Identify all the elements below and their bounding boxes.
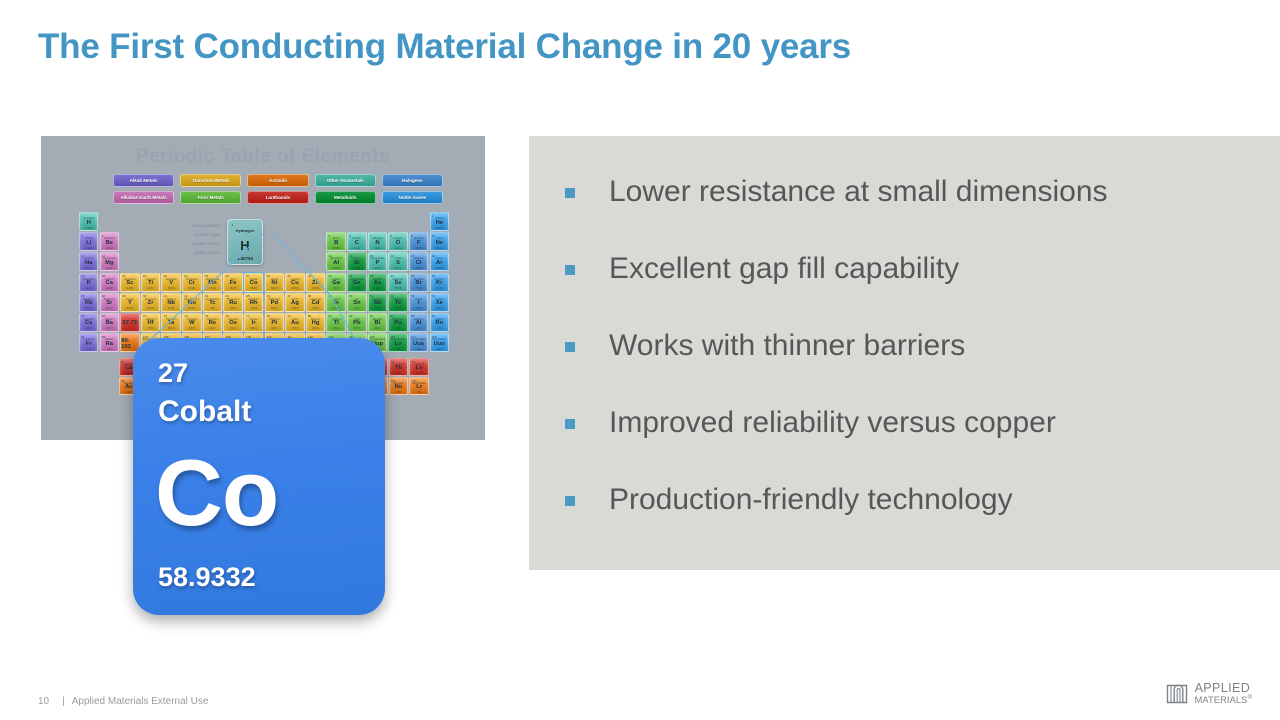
element-name: Ruthenium <box>224 298 241 301</box>
element-name: Rhenium <box>204 318 221 321</box>
element-weight: 121.8 <box>369 307 386 310</box>
bullet-text: Excellent gap fill capability <box>609 249 959 289</box>
grid-spacer <box>223 232 242 249</box>
element-symbol: Pd <box>271 300 278 306</box>
element-symbol: Uus <box>413 341 424 347</box>
element-name: Caesium <box>80 318 97 321</box>
bullet-square-icon <box>565 342 575 352</box>
element-weight: 83.80 <box>431 287 448 290</box>
element-cell-At: 85AstatineAt210 <box>409 313 428 332</box>
element-name: Ytterbium <box>390 363 408 366</box>
element-cell-Ba: 56BariumBa137.3 <box>100 313 119 332</box>
element-cell-Cu: 29CopperCu63.55 <box>285 273 304 292</box>
element-weight: 186.2 <box>204 327 221 330</box>
element-name: Krypton <box>431 278 448 281</box>
element-name: Carbon <box>348 237 365 240</box>
grid-spacer <box>244 232 263 249</box>
cobalt-atomic-number: 27 <box>158 358 188 389</box>
element-name: Osmium <box>224 318 241 321</box>
element-weight: 101.1 <box>224 307 241 310</box>
element-symbol: Ta <box>168 320 174 326</box>
element-weight: 72.63 <box>348 287 365 290</box>
element-symbol: I <box>418 300 420 306</box>
element-symbol: Lv <box>395 341 402 347</box>
element-weight: 52.00 <box>183 287 200 290</box>
element-symbol: Uuo <box>434 341 445 347</box>
element-weight: 9.012 <box>101 247 118 250</box>
element-symbol: Cs <box>85 320 92 326</box>
benefits-panel: Lower resistance at small dimensionsExce… <box>529 136 1280 570</box>
element-weight: 44.96 <box>121 287 138 290</box>
element-cell-Ga: 31GalliumGa69.72 <box>326 273 345 292</box>
element-cell-Pt: 78PlatinumPt195.1 <box>265 313 284 332</box>
element-name: Tantalum <box>162 318 179 321</box>
element-name: Aluminium <box>327 257 344 260</box>
element-cell-Hg: 80MercuryHg200.6 <box>306 313 325 332</box>
element-name: Barium <box>101 318 118 321</box>
element-cell-As: 33ArsenicAs74.92 <box>368 273 387 292</box>
element-cell-Zr: 40ZirconiumZr91.22 <box>141 293 160 312</box>
element-symbol: K <box>87 280 91 286</box>
element-cell-Tc: 43TechnetiumTc98 <box>203 293 222 312</box>
element-symbol: Po <box>394 320 401 326</box>
element-cell-Xe: 54XenonXe131.3 <box>430 293 449 312</box>
element-weight: 74.92 <box>369 287 386 290</box>
element-symbol: Rh <box>250 300 258 306</box>
footer-note: Applied Materials External Use <box>72 696 209 707</box>
element-cell-W: 74TungstenW183.8 <box>182 313 201 332</box>
bullet-text: Lower resistance at small dimensions <box>609 172 1108 212</box>
element-name: Iron <box>224 278 241 281</box>
element-symbol: Cl <box>416 260 422 266</box>
element-weight: 92.91 <box>162 307 179 310</box>
element-weight: 222 <box>431 327 448 330</box>
periodic-table-legend: Alkali MetalsTransition MetalsActinidsOt… <box>113 174 443 204</box>
element-cell-O: 8OxygenO16.00 <box>388 232 407 251</box>
element-name: Ununoctium <box>431 338 448 341</box>
element-name: Hydrogen <box>80 217 97 220</box>
element-weight: 106.4 <box>266 307 283 310</box>
brand-registered-mark: ® <box>1247 695 1252 701</box>
element-weight: 207.2 <box>348 327 365 330</box>
bullet-square-icon <box>565 188 575 198</box>
element-weight: 55.85 <box>224 287 241 290</box>
element-cell-Y: 39YttriumY88.91 <box>120 293 139 312</box>
grid-spacer <box>223 212 242 229</box>
element-name: Cobalt <box>245 278 262 281</box>
grid-spacer <box>306 252 325 269</box>
legend-pill: Other Nonmetals <box>315 174 376 187</box>
grid-spacer <box>100 212 119 229</box>
element-cell-Ra: 88RadiumRa226 <box>100 333 119 352</box>
element-weight: 195.1 <box>266 327 283 330</box>
element-cell-Cl: 17ChlorineCl35.45 <box>409 252 428 271</box>
element-name: Lutetium <box>410 363 428 366</box>
element-cell-Co: 27CobaltCo58.93 <box>244 273 263 292</box>
element-cell-Ni: 28NickelNi58.69 <box>265 273 284 292</box>
element-cell-Ti: 22TitaniumTi47.87 <box>141 273 160 292</box>
element-cell-Na: 11SodiumNa22.99 <box>79 252 98 271</box>
bullet-text: Production-friendly technology <box>609 480 1013 520</box>
element-cell-In: 49IndiumIn114.8 <box>326 293 345 312</box>
element-cell-Au: 79GoldAu197.0 <box>285 313 304 332</box>
element-weight: 178.5 <box>142 327 159 330</box>
element-weight: 107.9 <box>286 307 303 310</box>
element-symbol: Cu <box>291 280 299 286</box>
element-symbol: P <box>375 260 379 266</box>
element-name: Germanium <box>348 278 365 281</box>
element-name: Copper <box>286 278 303 281</box>
element-symbol: V <box>169 280 173 286</box>
element-name: Magnesium <box>101 257 118 260</box>
element-name: Tin <box>348 298 365 301</box>
element-cell-K: 19PotassiumK39.10 <box>79 273 98 292</box>
element-name: Boron <box>327 237 344 240</box>
element-name: Astatine <box>410 318 427 321</box>
grid-spacer <box>120 212 139 229</box>
element-name: Ununseptium <box>410 338 427 341</box>
element-weight: 19.00 <box>410 247 427 250</box>
element-weight: 126.9 <box>410 307 427 310</box>
element-name: Tungsten <box>183 318 200 321</box>
element-symbol: O <box>396 240 401 246</box>
cobalt-symbol: Co <box>155 438 278 548</box>
grid-spacer <box>120 232 139 249</box>
element-name: Zirconium <box>142 298 159 301</box>
element-cell-Ag: 47SilverAg107.9 <box>285 293 304 312</box>
element-name: Phosphorus <box>369 257 386 260</box>
element-weight: 30.97 <box>369 267 386 270</box>
element-weight: 98 <box>204 307 221 310</box>
element-symbol: Cd <box>312 300 320 306</box>
grid-spacer <box>161 232 180 249</box>
cobalt-atomic-weight: 58.9332 <box>158 562 256 593</box>
element-cell-Kr: 36KryptonKr83.80 <box>430 273 449 292</box>
element-weight: 226 <box>101 348 118 351</box>
element-name: Chlorine <box>410 257 427 260</box>
element-name: Lawrencium <box>410 382 428 385</box>
bullet-square-icon <box>565 265 575 275</box>
element-name: Beryllium <box>101 237 118 240</box>
grid-spacer <box>368 212 387 229</box>
element-symbol: Co <box>250 280 258 286</box>
element-name: Silicon <box>348 257 365 260</box>
element-weight: 4.003 <box>431 227 448 230</box>
element-weight: 50.94 <box>162 287 179 290</box>
cobalt-callout-tile: 27 Cobalt Co 58.9332 <box>133 338 385 615</box>
element-symbol: Mo <box>188 300 196 306</box>
element-symbol: Ni <box>271 280 277 286</box>
element-name: Titanium <box>142 278 159 281</box>
element-symbol: As <box>374 280 381 286</box>
element-cell-Cr: 24ChromiumCr52.00 <box>182 273 201 292</box>
element-name: Niobium <box>162 298 179 301</box>
grid-spacer <box>120 252 139 269</box>
element-cell-Cs: 55CaesiumCs132.9 <box>79 313 98 332</box>
legend-pill: Transition Metals <box>180 174 241 187</box>
benefits-bullet-list: Lower resistance at small dimensionsExce… <box>565 172 1270 557</box>
element-name: Livermorium <box>389 338 406 341</box>
element-name: Nickel <box>266 278 283 281</box>
element-cell-Al: 13AluminiumAl26.98 <box>326 252 345 271</box>
legend-pill: Alkali Metals <box>113 174 174 187</box>
element-symbol: He <box>436 220 443 226</box>
element-weight: 294 <box>431 348 448 351</box>
element-cell-H: 1HydrogenH1.008 <box>79 212 98 231</box>
element-name: Rubidium <box>80 298 97 301</box>
element-symbol: Ru <box>229 300 237 306</box>
element-weight: 39.95 <box>431 267 448 270</box>
element-name: Yttrium <box>121 298 138 301</box>
element-weight: 32.07 <box>389 267 406 270</box>
element-name: Fluorine <box>410 237 427 240</box>
element-weight: 175.0 <box>410 372 428 375</box>
element-weight: 118.7 <box>348 307 365 310</box>
bullet-item-5: Production-friendly technology <box>565 480 1270 557</box>
element-symbol: Sr <box>106 300 112 306</box>
periodic-table-main-grid: 1HydrogenH1.0082HeliumHe4.0033LithiumLi6… <box>79 212 449 352</box>
bullet-item-3: Works with thinner barriers <box>565 326 1270 403</box>
element-weight: 132.9 <box>80 327 97 330</box>
grid-spacer <box>203 232 222 249</box>
element-cell-Ge: 32GermaniumGe72.63 <box>347 273 366 292</box>
element-weight: 6.941 <box>80 247 97 250</box>
element-symbol: Xe <box>436 300 443 306</box>
page-title: The First Conducting Material Change in … <box>38 27 851 67</box>
element-weight: 1.008 <box>80 227 97 230</box>
element-symbol: Ag <box>291 300 299 306</box>
grid-spacer <box>161 212 180 229</box>
element-name: Hafnium <box>142 318 159 321</box>
element-symbol: Ir <box>252 320 256 326</box>
element-weight: 209.0 <box>369 327 386 330</box>
element-cell-P: 15PhosphorusP30.97 <box>368 252 387 271</box>
brand-wordmark: APPLIED MATERIALS® <box>1195 683 1252 705</box>
element-symbol: Ge <box>353 280 361 286</box>
element-symbol: Ra <box>106 341 113 347</box>
bullet-text: Improved reliability versus copper <box>609 403 1056 443</box>
element-weight: 204.4 <box>327 327 344 330</box>
element-weight: 294 <box>410 348 427 351</box>
element-name: Molybdenum <box>183 298 200 301</box>
element-symbol: Nb <box>167 300 175 306</box>
element-symbol: Ti <box>148 280 153 286</box>
element-cell-Fe: 26IronFe55.85 <box>223 273 242 292</box>
element-symbol: Ga <box>332 280 340 286</box>
element-cell-Ru: 44RutheniumRu101.1 <box>223 293 242 312</box>
element-name: Scandium <box>121 278 138 281</box>
grid-spacer <box>161 252 180 269</box>
bullet-square-icon <box>565 419 575 429</box>
element-symbol: Al <box>333 260 339 266</box>
element-cell-Nb: 41NiobiumNb92.91 <box>161 293 180 312</box>
grid-spacer <box>244 212 263 229</box>
element-weight: 87.62 <box>101 307 118 310</box>
element-cell-Pb: 82LeadPb207.2 <box>347 313 366 332</box>
element-weight: 10.81 <box>327 247 344 250</box>
element-weight: 192.2 <box>245 327 262 330</box>
element-name: Chromium <box>183 278 200 281</box>
element-weight: 262 <box>410 391 428 394</box>
element-symbol: Zr <box>148 300 154 306</box>
legend-pill: Halogens <box>382 174 443 187</box>
element-symbol: Mg <box>105 260 113 266</box>
element-name: Nitrogen <box>369 237 386 240</box>
element-cell-Sr: 38StrontiumSr87.62 <box>100 293 119 312</box>
periodic-table-title: Periodic Table of Elements <box>41 146 485 168</box>
element-weight: 22.99 <box>80 267 97 270</box>
element-name: Sulfur <box>389 257 406 260</box>
element-weight: 40.08 <box>101 287 118 290</box>
grid-spacer <box>306 212 325 229</box>
element-cell-57-71: 57-71 <box>120 313 139 332</box>
element-name: Xenon <box>431 298 448 301</box>
element-cell-Be: 4BerylliumBe9.012 <box>100 232 119 251</box>
element-weight: 35.45 <box>410 267 427 270</box>
element-weight: 58.93 <box>245 287 262 290</box>
element-weight: 95.96 <box>183 307 200 310</box>
element-symbol: Se <box>394 280 401 286</box>
element-symbol: Pt <box>271 320 277 326</box>
element-cell-Te: 52TelluriumTe127.6 <box>388 293 407 312</box>
element-symbol: Fr <box>86 341 92 347</box>
grid-spacer <box>265 232 284 249</box>
element-symbol: Sn <box>353 300 360 306</box>
element-cell-V: 23VanadiumV50.94 <box>161 273 180 292</box>
element-cell-B: 5BoronB10.81 <box>326 232 345 251</box>
brand-line-applied: APPLIED <box>1195 683 1252 693</box>
element-cell-Rh: 45RhodiumRh102.9 <box>244 293 263 312</box>
element-weight: 102.9 <box>245 307 262 310</box>
element-name: Lead <box>348 318 365 321</box>
element-weight: 24.31 <box>101 267 118 270</box>
element-weight: 88.91 <box>121 307 138 310</box>
element-cell-Lr: 103LawrenciumLr262 <box>409 377 429 395</box>
grid-spacer <box>285 212 304 229</box>
grid-spacer <box>285 232 304 249</box>
element-name: Lithium <box>80 237 97 240</box>
element-symbol: Hf <box>148 320 154 326</box>
element-weight: 209 <box>389 327 406 330</box>
slide-footer: 10 | Applied Materials External Use <box>38 696 208 707</box>
element-cell-Pd: 46PalladiumPd106.4 <box>265 293 284 312</box>
element-symbol: B <box>334 240 338 246</box>
element-symbol: Bi <box>375 320 381 326</box>
grid-spacer <box>203 252 222 269</box>
element-symbol: Ne <box>436 240 443 246</box>
element-symbol: Ar <box>436 260 442 266</box>
grid-spacer <box>244 252 263 269</box>
grid-spacer <box>265 252 284 269</box>
element-cell-Rn: 86RadonRn222 <box>430 313 449 332</box>
bullet-item-1: Lower resistance at small dimensions <box>565 172 1270 249</box>
brand-line-materials: MATERIALS® <box>1195 693 1252 705</box>
element-symbol: Cr <box>189 280 195 286</box>
element-symbol: C <box>355 240 359 246</box>
element-weight: 65.38 <box>307 287 324 290</box>
element-cell-Yb: 70YtterbiumYb173.1 <box>389 358 409 376</box>
element-name: Iodine <box>410 298 427 301</box>
element-name: Nobelium <box>390 382 408 385</box>
element-symbol: Y <box>128 300 132 306</box>
element-symbol: S <box>396 260 400 266</box>
element-cell-Tl: 81ThalliumTl204.4 <box>326 313 345 332</box>
element-weight: 137.3 <box>101 327 118 330</box>
element-name: Bromine <box>410 278 427 281</box>
element-cell-Si: 14SiliconSi28.09 <box>347 252 366 271</box>
element-symbol: Au <box>291 320 299 326</box>
element-weight: 20.18 <box>431 247 448 250</box>
element-symbol: At <box>416 320 422 326</box>
element-name: Argon <box>431 257 448 260</box>
element-symbol: N <box>375 240 379 246</box>
element-symbol: Be <box>106 240 113 246</box>
element-weight: 39.10 <box>80 287 97 290</box>
grid-spacer <box>203 212 222 229</box>
element-cell-Ir: 77IridiumIr192.2 <box>244 313 263 332</box>
element-cell-Ta: 73TantalumTa180.9 <box>161 313 180 332</box>
element-cell-Ar: 18ArgonAr39.95 <box>430 252 449 271</box>
element-weight: 293 <box>389 348 406 351</box>
element-weight: 85.47 <box>80 307 97 310</box>
element-cell-Re: 75RheniumRe186.2 <box>203 313 222 332</box>
legend-pill: Poor Metals <box>180 191 241 204</box>
element-cell-Lu: 71LutetiumLu175.0 <box>409 358 429 376</box>
element-weight: 180.9 <box>162 327 179 330</box>
element-weight: 131.3 <box>431 307 448 310</box>
element-symbol: Te <box>395 300 401 306</box>
element-name: Thallium <box>327 318 344 321</box>
element-name: Cadmium <box>307 298 324 301</box>
element-name: Neon <box>431 237 448 240</box>
element-cell-No: 102NobeliumNo259 <box>389 377 409 395</box>
legend-pill: Lanthanids <box>247 191 308 204</box>
element-weight: 54.94 <box>204 287 221 290</box>
element-cell-Po: 84PoloniumPo209 <box>388 313 407 332</box>
element-cell-Fr: 87FranciumFr223 <box>79 333 98 352</box>
element-cell-Se: 34SeleniumSe78.96 <box>388 273 407 292</box>
grid-spacer <box>388 212 407 229</box>
element-weight: 16.00 <box>389 247 406 250</box>
element-weight: 91.22 <box>142 307 159 310</box>
element-cell-Sc: 21ScandiumSc44.96 <box>120 273 139 292</box>
element-symbol: Tl <box>334 320 339 326</box>
element-name: Radon <box>431 318 448 321</box>
element-weight: 47.87 <box>142 287 159 290</box>
element-symbol: Kr <box>436 280 442 286</box>
element-symbol: Mn <box>208 280 216 286</box>
element-name: Gold <box>286 318 303 321</box>
grid-spacer <box>141 232 160 249</box>
element-cell-Cd: 48CadmiumCd112.4 <box>306 293 325 312</box>
legend-pill: Noble Gases <box>382 191 443 204</box>
element-weight: 183.8 <box>183 327 200 330</box>
element-symbol: Rn <box>435 320 443 326</box>
element-name: Arsenic <box>369 278 386 281</box>
element-cell-Sn: 50TinSn118.7 <box>347 293 366 312</box>
element-name: Sodium <box>80 257 97 260</box>
element-cell-Ca: 20CalciumCa40.08 <box>100 273 119 292</box>
footer-separator: | <box>62 696 65 707</box>
element-name: Polonium <box>389 318 406 321</box>
element-symbol: Hg <box>312 320 320 326</box>
element-name: Oxygen <box>389 237 406 240</box>
element-cell-N: 7NitrogenN14.01 <box>368 232 387 251</box>
element-name: Iridium <box>245 318 262 321</box>
element-symbol: W <box>189 320 194 326</box>
element-name: Helium <box>431 217 448 220</box>
element-symbol: Li <box>86 240 91 246</box>
